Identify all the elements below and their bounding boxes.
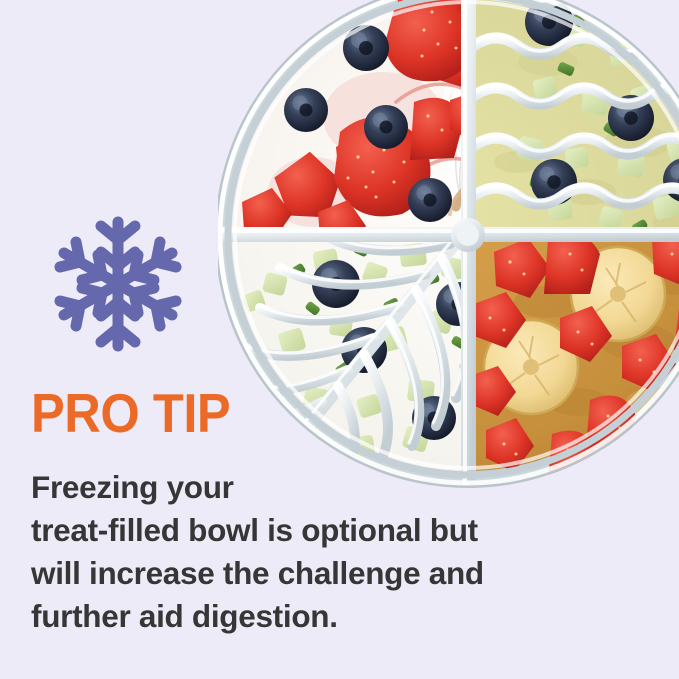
tip-body-text: Freezing your treat-filled bowl is optio…: [31, 466, 591, 638]
snowflake-icon: [54, 214, 182, 354]
tip-body-line: further aid digestion.: [31, 595, 591, 638]
treat-bowl-photo: [218, 0, 679, 488]
tip-body-line: treat-filled bowl is optional but: [31, 509, 591, 552]
pro-tip-card: PRO TIP Freezing your treat-filled bowl …: [0, 0, 679, 679]
page-title: PRO TIP: [31, 383, 230, 443]
tip-body-line: will increase the challenge and: [31, 552, 591, 595]
tip-body-line: Freezing your: [31, 466, 591, 509]
